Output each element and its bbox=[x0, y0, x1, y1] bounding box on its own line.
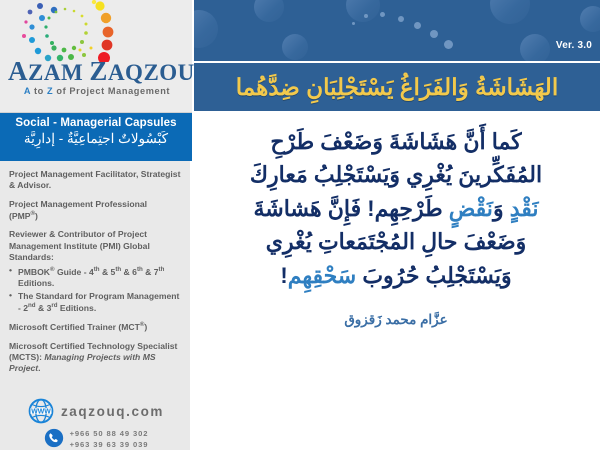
decorative-bubble bbox=[282, 34, 308, 60]
standards-item: The Standard for Program Management - 2n… bbox=[9, 291, 183, 315]
highlight-word: سَحْقِهِم bbox=[288, 263, 357, 288]
svg-text:WWW: WWW bbox=[31, 408, 51, 415]
author-signature: عزَّام محمد زَقزوق bbox=[206, 312, 586, 328]
credential-item: Microsoft Certified Trainer (MCT®) bbox=[9, 321, 183, 333]
decorative-bubble bbox=[580, 6, 600, 32]
credential-item: Reviewer & Contributor of Project Manage… bbox=[9, 229, 183, 263]
page-title: الهَشَاشَةُ وَالفَرَاغُ يَسْتَجْلِبَانِ … bbox=[236, 74, 558, 101]
quote-line: نَقْدٍ وَنَقْضٍ طَرْحِهِم! فَإِنَّ هَشاش… bbox=[206, 192, 586, 225]
sidebar-header-arabic: كَبْسُولاتٌ اجتِماعِيَّةٌ - إدارِيَّة bbox=[0, 131, 192, 147]
capsule-poster: AZAM ZAQZOUQ A to Z of Project Managemen… bbox=[0, 0, 600, 450]
decorative-bubble bbox=[346, 0, 380, 22]
decorative-dot bbox=[352, 22, 355, 25]
brand-name: AZAM ZAQZOUQ bbox=[8, 56, 186, 87]
website-row[interactable]: WWW zaqzouq.com bbox=[0, 398, 192, 424]
quote-line: وَيَسْتَجْلِبُ حُرُوبَ سَحْقِهِم! bbox=[206, 259, 586, 292]
version-label: Ver. 3.0 bbox=[556, 40, 592, 51]
phone-number-2: +963 39 63 39 039 bbox=[70, 439, 149, 450]
website-url[interactable]: zaqzouq.com bbox=[61, 404, 164, 419]
phone-number-1: +966 50 88 49 302 bbox=[70, 428, 149, 439]
quote-line: كَما أَنَّ هَشَاشَةَ وَضَعْفَ طَرْحِ bbox=[206, 125, 586, 158]
sidebar-header-english: Social - Managerial Capsules bbox=[0, 117, 192, 129]
quote-seg: وَ bbox=[493, 196, 510, 221]
decorative-bubble bbox=[254, 0, 284, 22]
decorative-bubble bbox=[490, 0, 530, 24]
sidebar: AZAM ZAQZOUQ A to Z of Project Managemen… bbox=[0, 0, 192, 450]
quote-seg: ! bbox=[280, 263, 287, 288]
decorative-bubble bbox=[194, 10, 218, 48]
header-banner: Ver. 3.0 bbox=[194, 0, 600, 61]
brand-tagline: A to Z of Project Management bbox=[8, 86, 186, 96]
sidebar-header: Social - Managerial Capsules كَبْسُولاتٌ… bbox=[0, 113, 192, 161]
decorative-dot bbox=[444, 40, 453, 49]
decorative-dot bbox=[380, 12, 385, 17]
quote-seg: وَيَسْتَجْلِبُ حُرُوبَ bbox=[356, 263, 511, 288]
mcts-end: . bbox=[38, 363, 40, 373]
quote-seg: طَرْحِهِم! فَإِنَّ هَشاشَةَ bbox=[253, 196, 448, 221]
rainbow-spiral-dots-icon bbox=[18, 0, 134, 62]
credential-item: Microsoft Certified Technology Specialis… bbox=[9, 341, 183, 375]
decorative-dot bbox=[364, 14, 368, 18]
decorative-bubble bbox=[520, 34, 550, 61]
decorative-dot bbox=[430, 30, 438, 38]
globe-www-icon: WWW bbox=[28, 398, 54, 424]
standards-item: PMBOK® Guide - 4th & 5th & 6th & 7th Edi… bbox=[9, 266, 183, 290]
decorative-dot bbox=[414, 22, 421, 29]
phone-icon bbox=[44, 428, 64, 448]
phone-row: +966 50 88 49 302 +963 39 63 39 039 bbox=[0, 428, 192, 450]
quote-line: وَضَعْفَ حالِ المُجْتَمَعاتِ يُغْرِي bbox=[206, 225, 586, 258]
highlight-word: نَقْضٍ bbox=[449, 196, 493, 221]
standards-list: PMBOK® Guide - 4th & 5th & 6th & 7th Edi… bbox=[9, 266, 183, 314]
phone-numbers: +966 50 88 49 302 +963 39 63 39 039 bbox=[70, 428, 149, 450]
quote-line: المُفَكِّرينَ يُغْرِي وَيَسْتَجْلِبُ مَع… bbox=[206, 158, 586, 191]
decorative-dot bbox=[398, 16, 404, 22]
credentials-list: Project Management Facilitator, Strategi… bbox=[0, 161, 192, 382]
brand-logo-block: AZAM ZAQZOUQ A to Z of Project Managemen… bbox=[0, 0, 192, 113]
credential-item: Project Management Facilitator, Strategi… bbox=[9, 169, 183, 192]
highlight-word: نَقْدٍ bbox=[510, 196, 539, 221]
credential-item: Project Management Professional(PMP®) bbox=[9, 199, 183, 223]
quote-text: كَما أَنَّ هَشَاشَةَ وَضَعْفَ طَرْحِ الم… bbox=[206, 125, 586, 292]
main-content: كَما أَنَّ هَشَاشَةَ وَضَعْفَ طَرْحِ الم… bbox=[194, 113, 600, 450]
title-bar: الهَشَاشَةُ وَالفَرَاغُ يَسْتَجْلِبَانِ … bbox=[194, 63, 600, 111]
